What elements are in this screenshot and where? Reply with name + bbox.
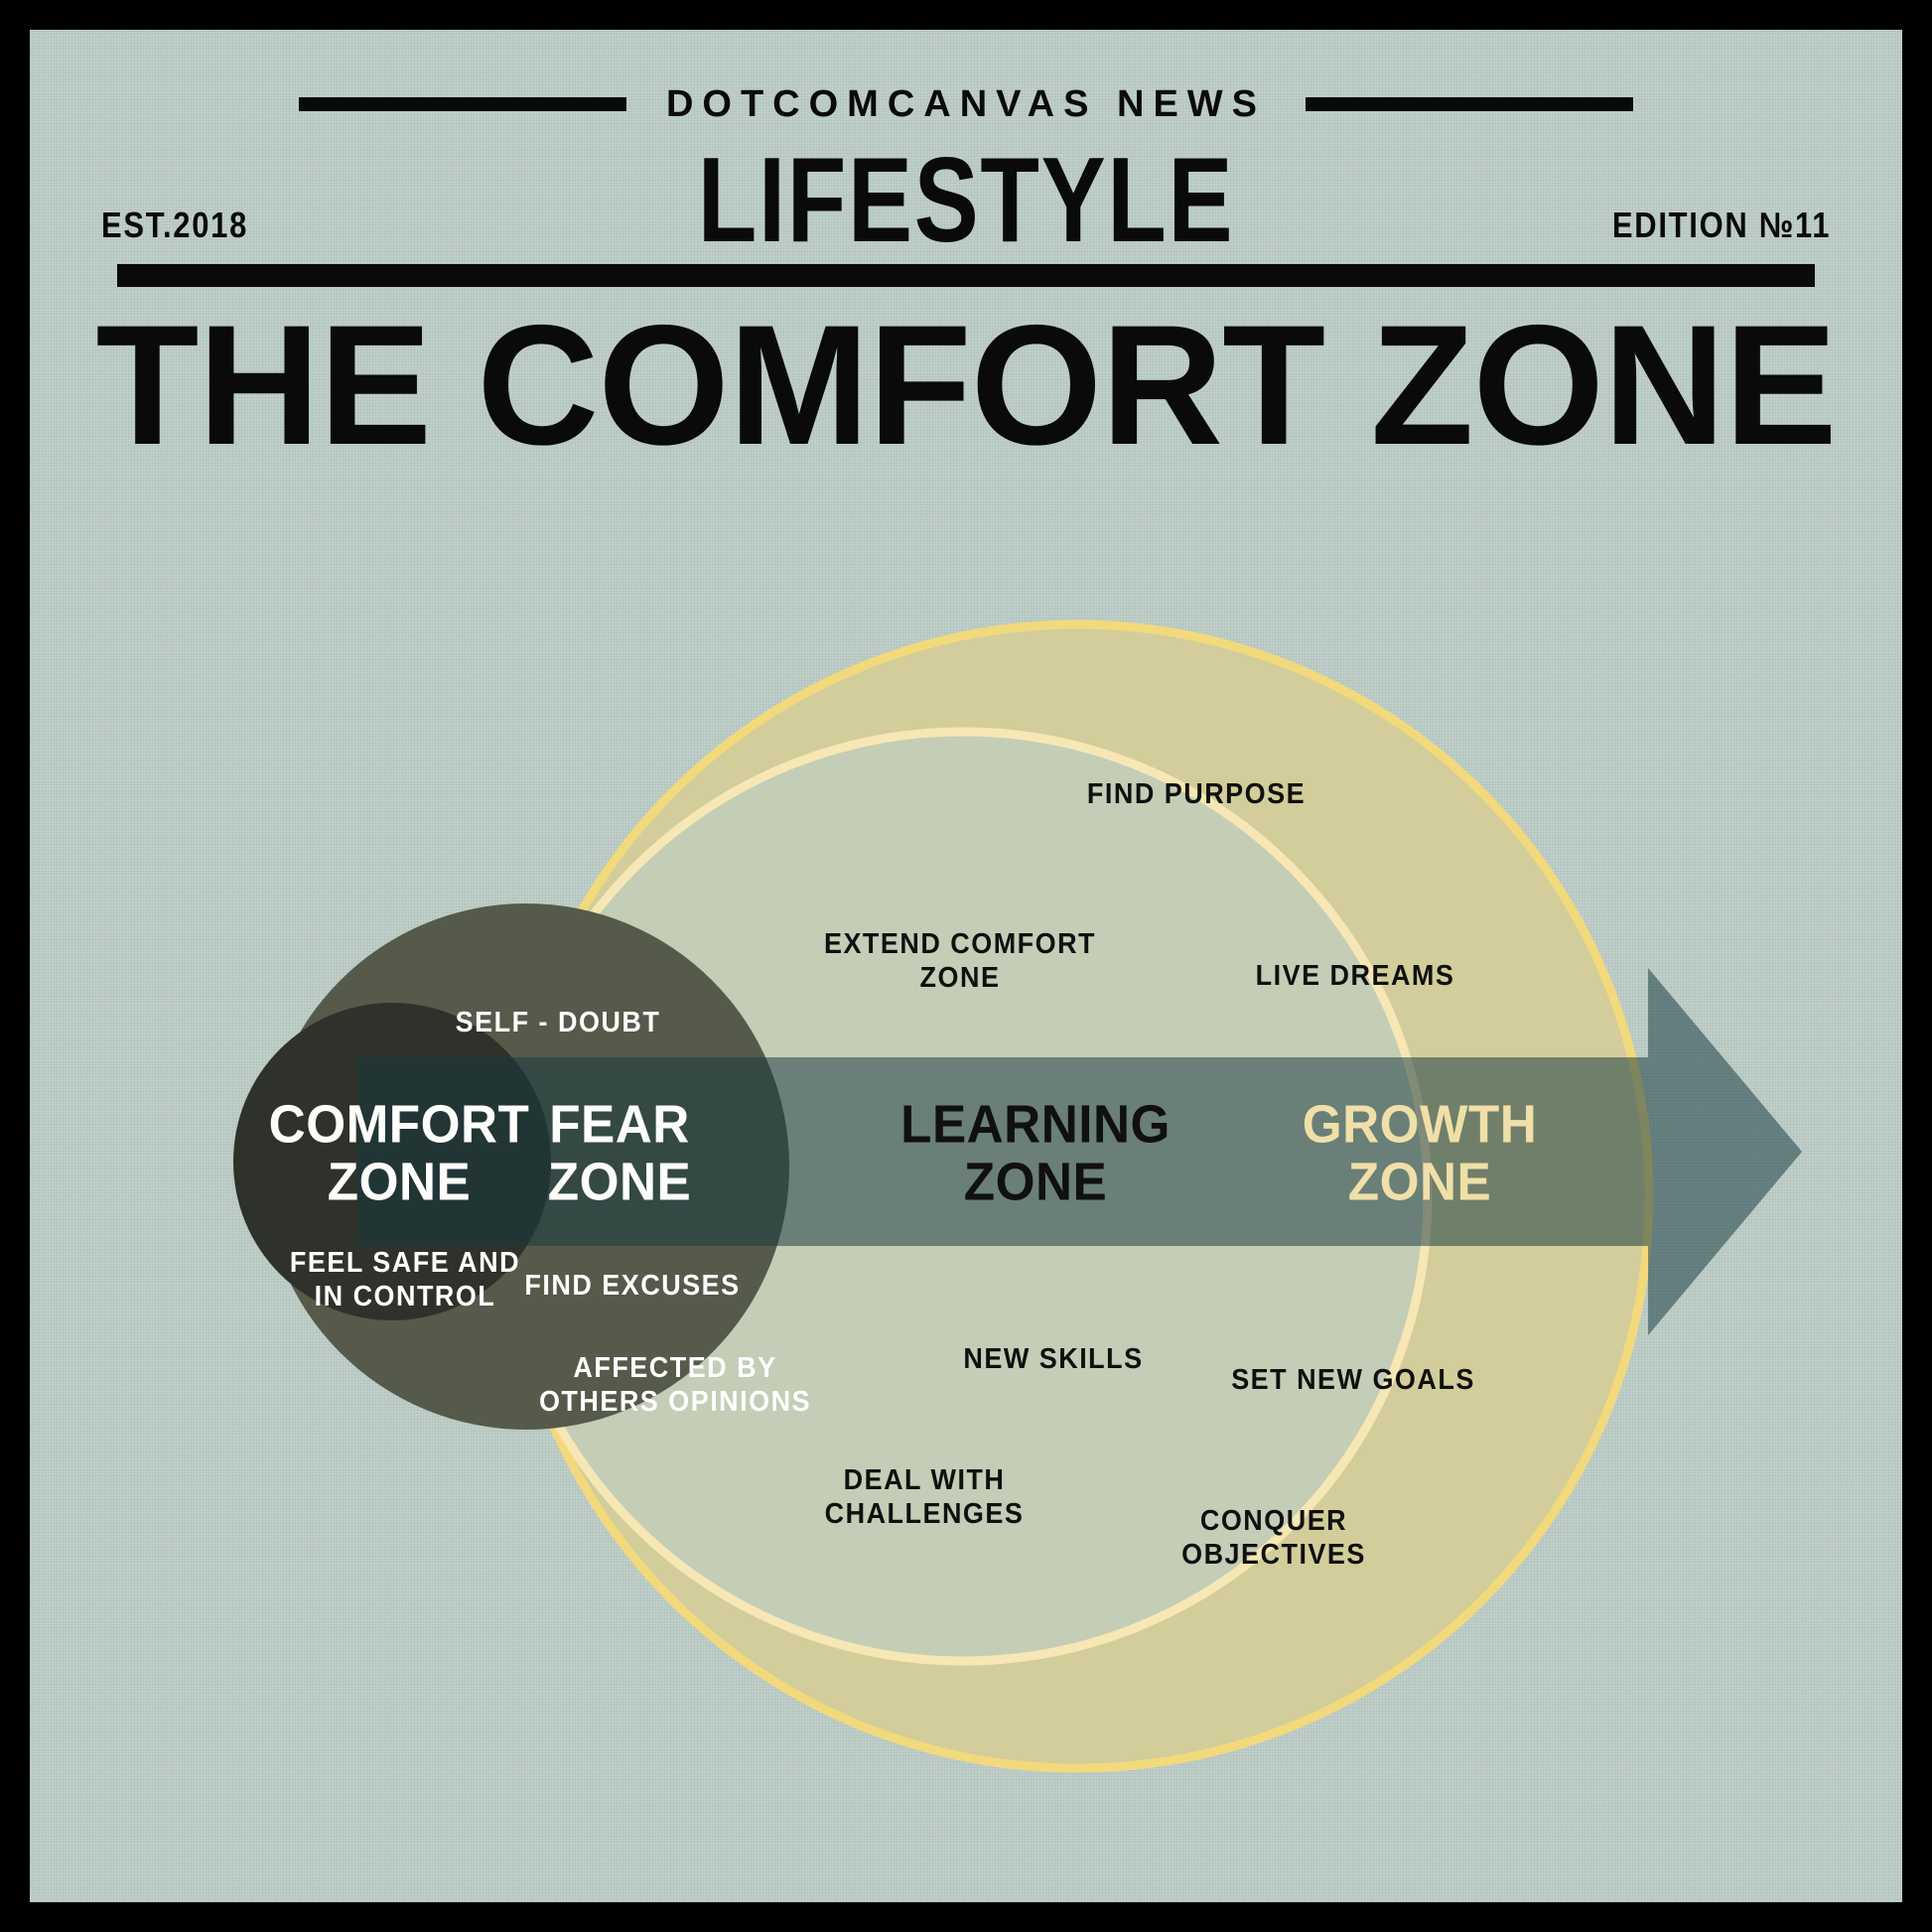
- zone-label-fear: FEAR ZONE: [548, 1096, 691, 1212]
- poster-page: DOTCOMCANVAS NEWS LIFESTYLE EST.2018 EDI…: [0, 0, 1932, 1932]
- zone-label-comfort: COMFORT ZONE: [269, 1096, 530, 1212]
- zone-label-growth: GROWTH ZONE: [1303, 1096, 1538, 1212]
- zone-label-learning: LEARNING ZONE: [900, 1096, 1171, 1212]
- zones-svg: [30, 30, 1902, 1902]
- poster-canvas: DOTCOMCANVAS NEWS LIFESTYLE EST.2018 EDI…: [30, 30, 1902, 1902]
- comfort-zone-diagram: COMFORT ZONE FEAR ZONE LEARNING ZONE GRO…: [30, 30, 1902, 1902]
